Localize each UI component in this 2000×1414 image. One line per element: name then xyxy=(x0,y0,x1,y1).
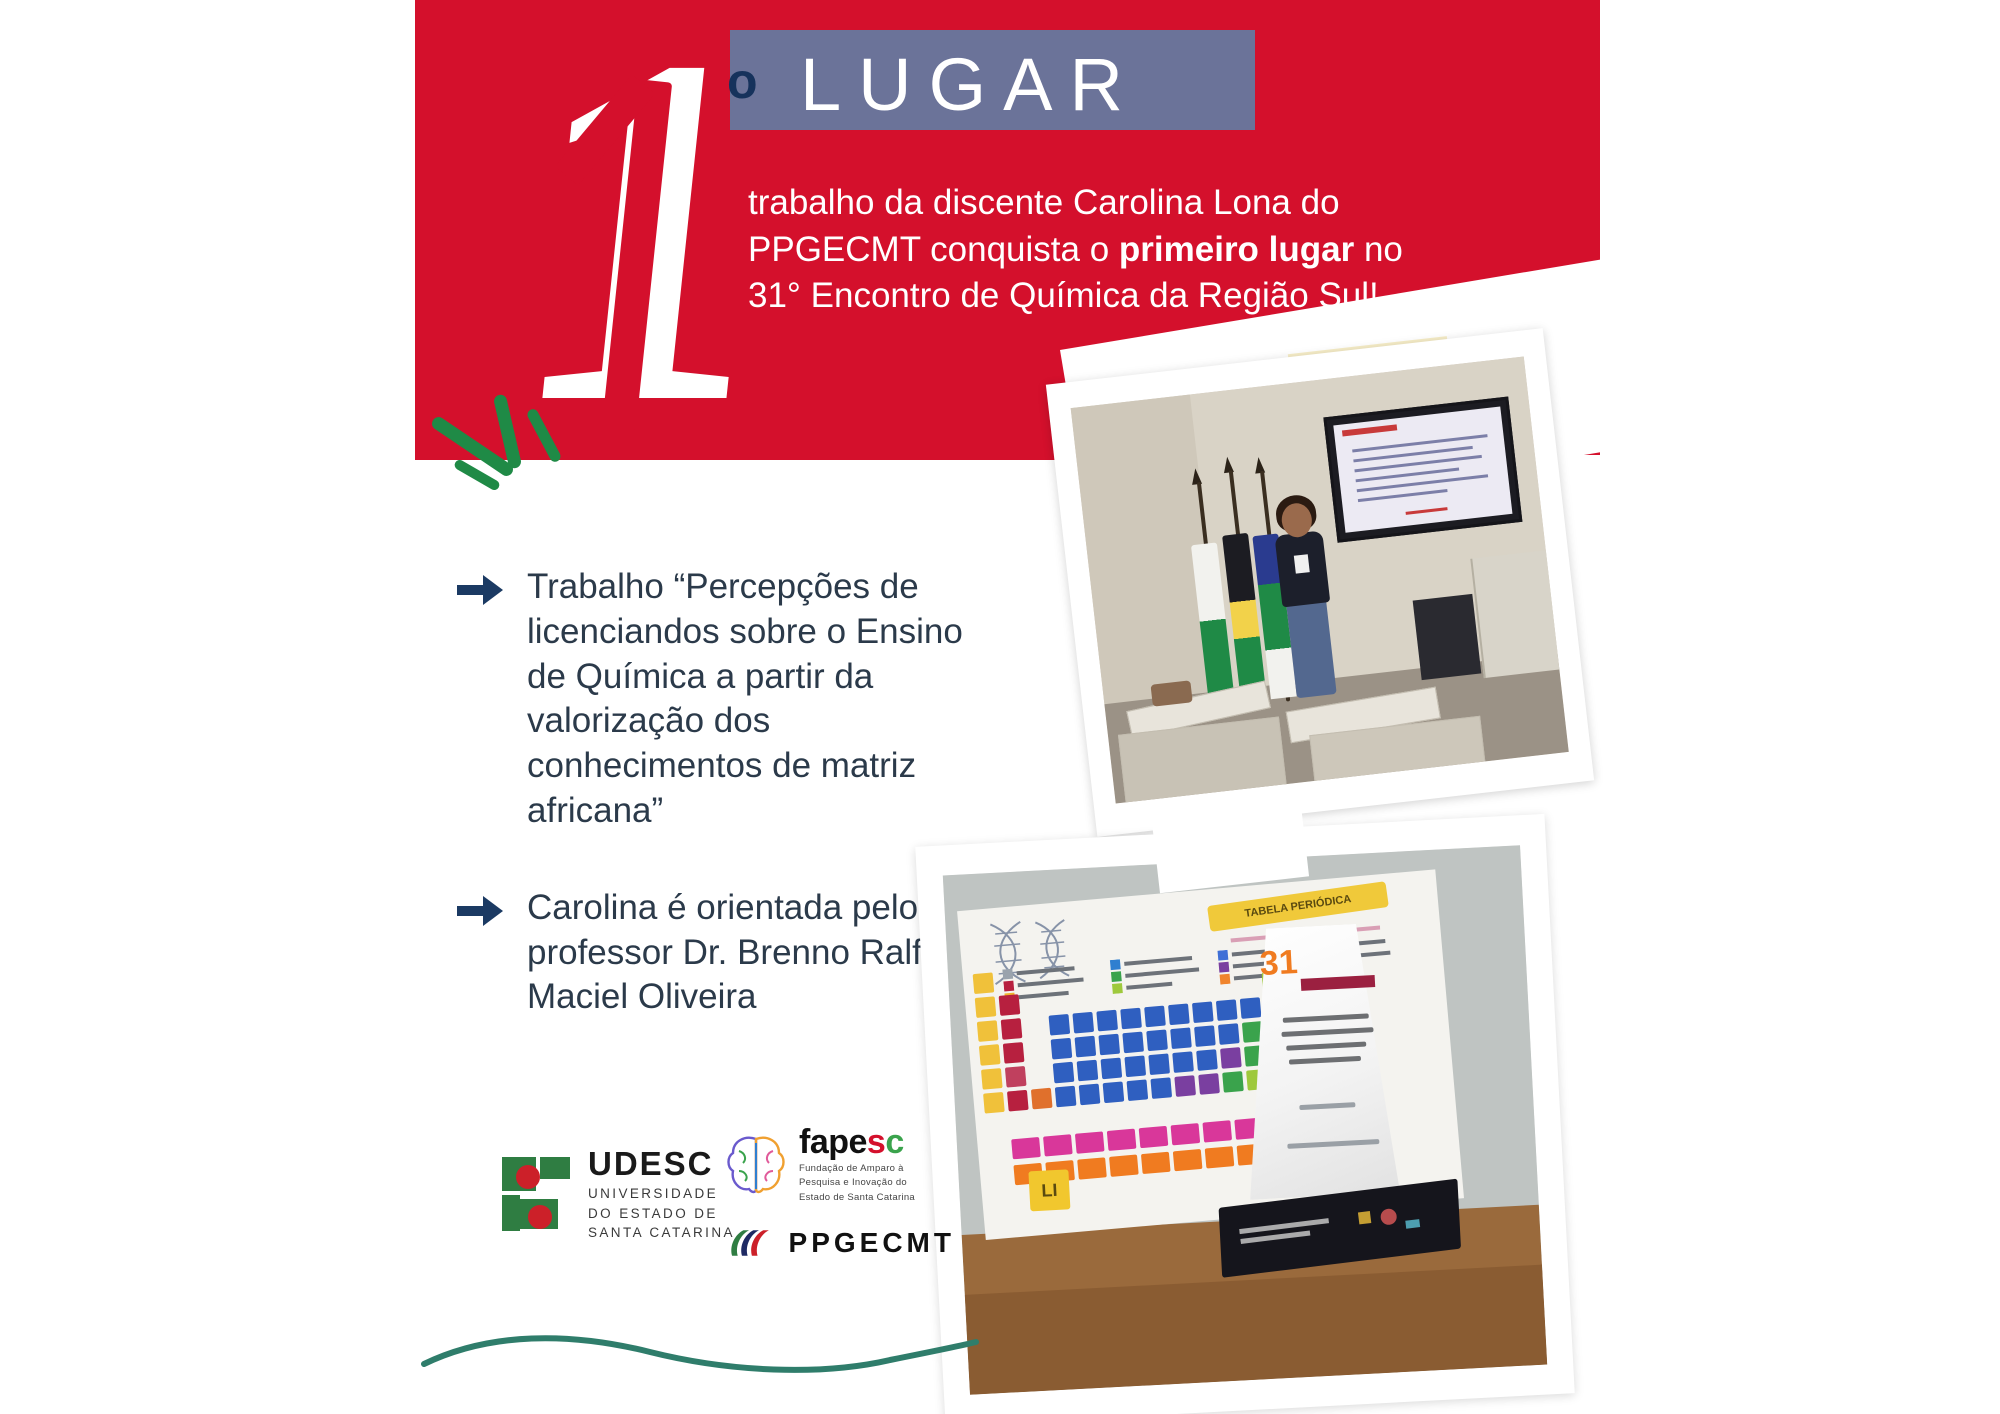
element-tile xyxy=(1194,1025,1216,1047)
element-tile xyxy=(1218,1023,1240,1045)
element-tile xyxy=(977,1020,999,1042)
element-tile xyxy=(1127,1079,1149,1101)
element-tile xyxy=(1075,1036,1097,1058)
element-tile xyxy=(1049,1014,1071,1036)
udesc-mark-icon xyxy=(500,1155,574,1235)
element-tile xyxy=(1053,1062,1075,1084)
element-tile xyxy=(1001,1018,1023,1040)
photo-trophy-image: TABELA PERIÓDICA xyxy=(943,845,1547,1395)
element-tile xyxy=(1011,1137,1041,1159)
element-tile xyxy=(1005,1066,1027,1088)
element-tile xyxy=(1148,1053,1170,1075)
element-tile xyxy=(1202,1120,1232,1142)
element-tile xyxy=(1168,1003,1190,1025)
element-tile xyxy=(1192,1001,1214,1023)
green-wave-divider xyxy=(420,1330,980,1390)
photo1-av-cart xyxy=(1413,594,1482,680)
header-paragraph-line-2: PPGECMT conquista o primeiro lugar no xyxy=(748,227,1548,274)
element-tile xyxy=(1170,1027,1192,1049)
photo-presentation xyxy=(1046,328,1594,837)
photo1-slide-accent xyxy=(1342,424,1397,436)
photo1-slide-line xyxy=(1352,434,1487,452)
fapesc-tagline-3: Estado de Santa Catarina xyxy=(799,1191,915,1205)
photo-trophy: TABELA PERIÓDICA xyxy=(915,814,1574,1414)
element-tile xyxy=(1051,1038,1073,1060)
header-paragraph-highlight: primeiro lugar xyxy=(1119,230,1354,269)
fapesc-tagline-1: Fundação de Amparo à xyxy=(799,1162,915,1176)
element-tile xyxy=(1144,1006,1166,1028)
photo1-display-screen xyxy=(1323,397,1522,543)
udesc-tagline-2: DO ESTADO DE xyxy=(588,1204,735,1224)
trophy-event-number: 31 xyxy=(1259,943,1299,984)
photo1-cabinet xyxy=(1470,550,1561,678)
brain-icon xyxy=(725,1133,787,1197)
element-tile xyxy=(1098,1034,1120,1056)
rank-ordinal-indicator: o xyxy=(727,52,758,110)
photo-overlap-mask xyxy=(1151,797,1309,893)
photo1-person-badge xyxy=(1294,554,1310,573)
element-tile xyxy=(1096,1010,1118,1032)
element-tile xyxy=(1216,999,1238,1021)
element-tile xyxy=(1109,1155,1139,1177)
bullet-list: Trabalho “Percepções de licenciandos sob… xyxy=(455,565,975,1072)
element-tile-li: LI xyxy=(1028,1169,1070,1211)
element-tile xyxy=(1079,1084,1101,1106)
ppgecmt-acronym: PPGECMT xyxy=(789,1227,955,1259)
element-tile xyxy=(1077,1060,1099,1082)
element-tile xyxy=(999,994,1021,1016)
element-tile xyxy=(1171,1123,1201,1145)
header-paragraph-line-2a: PPGECMT conquista o xyxy=(748,230,1119,269)
element-tile xyxy=(1055,1086,1077,1108)
udesc-acronym: UDESC xyxy=(588,1147,735,1180)
element-tile xyxy=(1198,1073,1220,1095)
element-tile xyxy=(1077,1157,1107,1179)
arrow-right-icon xyxy=(455,573,507,607)
element-tile xyxy=(1107,1129,1137,1151)
photo1-slide-line xyxy=(1358,489,1448,502)
header-paragraph-line-2b: no xyxy=(1354,230,1403,269)
list-item-label: Carolina é orientada pelo professor Dr. … xyxy=(527,886,975,1020)
fapesc-logo: fapesc Fundação de Amparo à Pesquisa e I… xyxy=(725,1125,955,1205)
element-tile xyxy=(983,1092,1005,1114)
photo1-slide xyxy=(1333,406,1512,532)
element-tile xyxy=(1173,1149,1203,1171)
element-tile xyxy=(1220,1047,1242,1069)
fapesc-tagline-2: Pesquisa e Inovação do xyxy=(799,1176,915,1190)
element-tile xyxy=(1172,1051,1194,1073)
fapesc-word-black: fape xyxy=(799,1123,867,1161)
element-tile xyxy=(1007,1090,1029,1112)
fapesc-word-green: c xyxy=(885,1123,903,1161)
udesc-tagline-3: SANTA CATARINA xyxy=(588,1223,735,1243)
header-paragraph-line-1: trabalho da discente Carolina Lona do xyxy=(748,180,1548,227)
element-tile xyxy=(1240,997,1262,1019)
photo-presentation-image xyxy=(1071,356,1569,803)
element-tile xyxy=(1103,1081,1125,1103)
rank-word-label: LUGAR xyxy=(800,42,1140,127)
poster-canvas: 1 o LUGAR trabalho da discente Carolina … xyxy=(0,0,2000,1414)
element-tile xyxy=(1101,1058,1123,1080)
element-tile xyxy=(1196,1049,1218,1071)
ppgecmt-logo: PPGECMT xyxy=(725,1215,955,1271)
element-tile xyxy=(1075,1131,1105,1153)
element-tile xyxy=(973,972,995,994)
element-tile xyxy=(1003,1042,1025,1064)
element-tile xyxy=(1124,1055,1146,1077)
list-item: Trabalho “Percepções de licenciandos sob… xyxy=(455,565,975,834)
list-item-label: Trabalho “Percepções de licenciandos sob… xyxy=(527,565,975,834)
element-tile xyxy=(979,1044,1001,1066)
udesc-tagline-1: UNIVERSIDADE xyxy=(588,1184,735,1204)
arrow-right-icon xyxy=(455,894,507,928)
element-tile xyxy=(1139,1126,1169,1148)
photo1-slide-footer xyxy=(1406,507,1448,515)
element-tile xyxy=(1146,1029,1168,1051)
udesc-logo: UDESC UNIVERSIDADE DO ESTADO DE SANTA CA… xyxy=(500,1140,760,1250)
element-tile xyxy=(1141,1152,1171,1174)
element-tile xyxy=(1072,1012,1094,1034)
element-tile xyxy=(1031,1088,1053,1110)
element-tile xyxy=(1150,1077,1172,1099)
ppgecmt-mark-icon xyxy=(725,1221,775,1265)
element-tile xyxy=(1222,1071,1244,1093)
element-tile xyxy=(1120,1008,1142,1030)
fapesc-word-red: s xyxy=(867,1123,885,1161)
element-tile xyxy=(1043,1134,1073,1156)
element-tile xyxy=(1174,1075,1196,1097)
element-tile xyxy=(1205,1146,1235,1168)
header-paragraph: trabalho da discente Carolina Lona do PP… xyxy=(748,180,1548,320)
photo1-bag xyxy=(1150,680,1192,706)
element-tile xyxy=(1122,1032,1144,1054)
list-item: Carolina é orientada pelo professor Dr. … xyxy=(455,886,975,1020)
element-tile xyxy=(981,1068,1003,1090)
element-tile xyxy=(975,996,997,1018)
header-paragraph-line-3: 31° Encontro de Química da Região Sul! xyxy=(748,273,1548,320)
